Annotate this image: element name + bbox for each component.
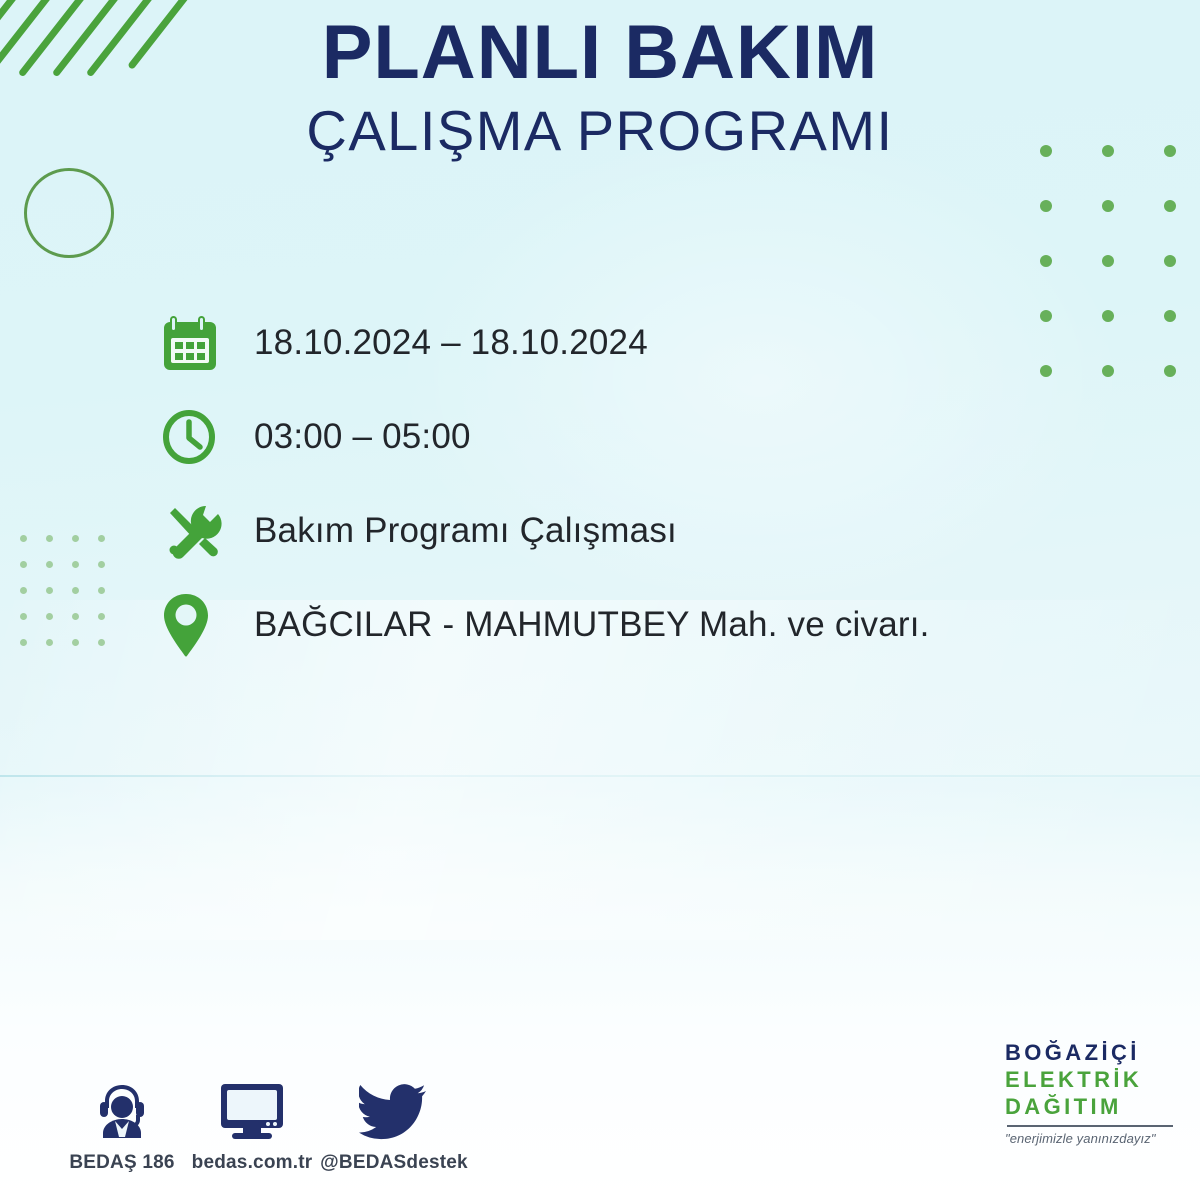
calendar-icon: [162, 314, 254, 372]
detail-row-date: 18.10.2024 – 18.10.2024: [162, 296, 1102, 390]
detail-row-work-text: Bakım Programı Çalışması: [254, 511, 677, 551]
page-title: PLANLI BAKIM: [0, 14, 1200, 92]
location-pin-icon: [162, 592, 254, 658]
contact-call-center-label: BEDAŞ 186: [69, 1152, 174, 1174]
detail-row-time: 03:00 – 05:00: [162, 390, 1102, 484]
contact-website[interactable]: bedas.com.tr: [186, 1078, 318, 1174]
background-divider-line: [0, 775, 1200, 777]
detail-row-location-text: BAĞCILAR - MAHMUTBEY Mah. ve civarı.: [254, 605, 930, 645]
contact-website-label: bedas.com.tr: [192, 1152, 313, 1174]
page-header: PLANLI BAKIM ÇALIŞMA PROGRAMI: [0, 14, 1200, 164]
support-agent-icon: [91, 1078, 153, 1140]
brand-tagline: "enerjimizle yanınızdayız": [1005, 1131, 1177, 1146]
page-subtitle: ÇALIŞMA PROGRAMI: [0, 98, 1200, 164]
footer-contact-links: BEDAŞ 186 bedas.com.tr @BEDASdestek: [58, 1078, 470, 1174]
brand-line-dagitim: DAĞITIM: [1005, 1094, 1177, 1121]
brand-logo: BOĞAZİÇİ ELEKTRİK DAĞITIM "enerjimizle y…: [1005, 1040, 1177, 1146]
contact-twitter-label: @BEDASdestek: [320, 1152, 468, 1174]
clock-icon: [162, 409, 254, 465]
twitter-bird-icon: [359, 1078, 429, 1140]
circle-outline-decoration: [24, 168, 114, 258]
brand-divider: [1007, 1125, 1173, 1127]
detail-row-location: BAĞCILAR - MAHMUTBEY Mah. ve civarı.: [162, 578, 1102, 672]
brand-line-elektrik: ELEKTRİK: [1005, 1067, 1177, 1094]
detail-row-time-text: 03:00 – 05:00: [254, 417, 471, 457]
monitor-icon: [218, 1078, 286, 1140]
contact-call-center[interactable]: BEDAŞ 186: [58, 1078, 186, 1174]
detail-row-work: Bakım Programı Çalışması: [162, 484, 1102, 578]
tools-icon: [162, 502, 254, 560]
brand-line-bogazici: BOĞAZİÇİ: [1005, 1040, 1177, 1067]
contact-twitter[interactable]: @BEDASdestek: [318, 1078, 470, 1174]
dot-grid-left-decoration: [20, 535, 124, 665]
maintenance-details-list: 18.10.2024 – 18.10.2024 03:00 – 05:00 Ba…: [162, 296, 1102, 672]
detail-row-date-text: 18.10.2024 – 18.10.2024: [254, 323, 648, 363]
